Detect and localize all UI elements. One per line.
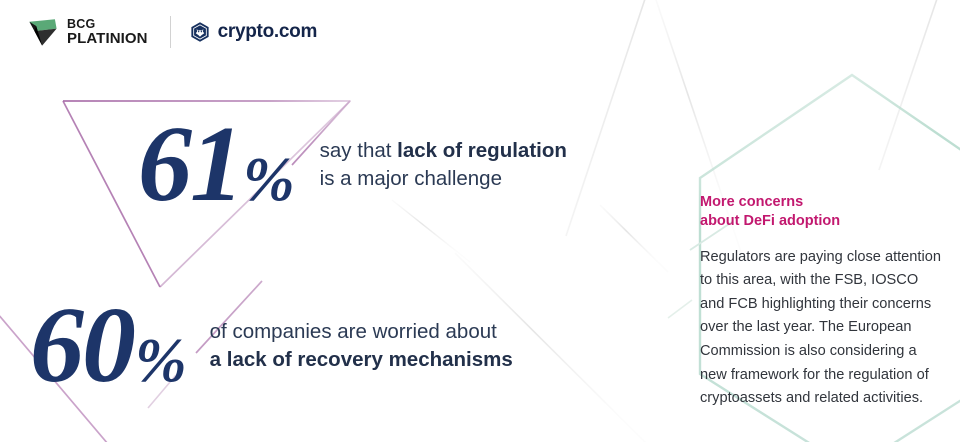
stat-block-recovery: 60 % of companies are worried about a la…: [30, 300, 513, 393]
bcg-wordmark-line1: BCG: [67, 18, 148, 31]
header-divider: [170, 16, 171, 48]
stat-caption-line2: a lack of recovery mechanisms: [210, 346, 513, 374]
crypto-com-lion-hexagon-icon: [189, 21, 211, 43]
header-logos: BCG PLATINION crypto.com: [26, 10, 317, 54]
stat-caption-line2: is a major challenge: [320, 165, 567, 193]
stat-block-regulation: 61 % say that lack of regulation is a ma…: [138, 119, 567, 212]
stat-caption-regulation: say that lack of regulation is a major c…: [320, 137, 567, 194]
stat-figure-60: 60 %: [30, 300, 186, 393]
panel-body-text: Regulators are paying close attention to…: [700, 246, 944, 411]
caption-bold-text: lack of regulation: [397, 139, 567, 162]
infographic-canvas: BCG PLATINION crypto.com 61 % say that l…: [0, 0, 960, 442]
bcg-platinion-prism-icon: [26, 15, 60, 49]
panel-heading-line2: about DeFi adoption: [700, 212, 944, 231]
crypto-com-logo: crypto.com: [189, 21, 317, 43]
stat-figure-61: 61 %: [138, 119, 294, 212]
stat-number: 60: [30, 300, 134, 393]
side-panel-defi-concerns: More concerns about DeFi adoption Regula…: [700, 193, 944, 411]
crypto-com-wordmark: crypto.com: [218, 21, 317, 43]
stat-number: 61: [138, 119, 242, 212]
caption-bold-text: a lack of recovery mechanisms: [210, 348, 513, 371]
stat-caption-line1: of companies are worried about: [210, 318, 513, 346]
caption-plain-text: say that: [320, 139, 398, 162]
stat-caption-line1: say that lack of regulation: [320, 137, 567, 165]
bcg-wordmark-line2: PLATINION: [67, 31, 148, 46]
panel-heading: More concerns about DeFi adoption: [700, 193, 944, 232]
stat-caption-recovery: of companies are worried about a lack of…: [210, 318, 513, 375]
panel-heading-line1: More concerns: [700, 193, 944, 212]
stat-percent-sign: %: [243, 154, 294, 207]
bcg-platinion-logo: BCG PLATINION: [26, 15, 148, 49]
stat-percent-sign: %: [135, 335, 186, 388]
bcg-wordmark: BCG PLATINION: [67, 18, 148, 47]
